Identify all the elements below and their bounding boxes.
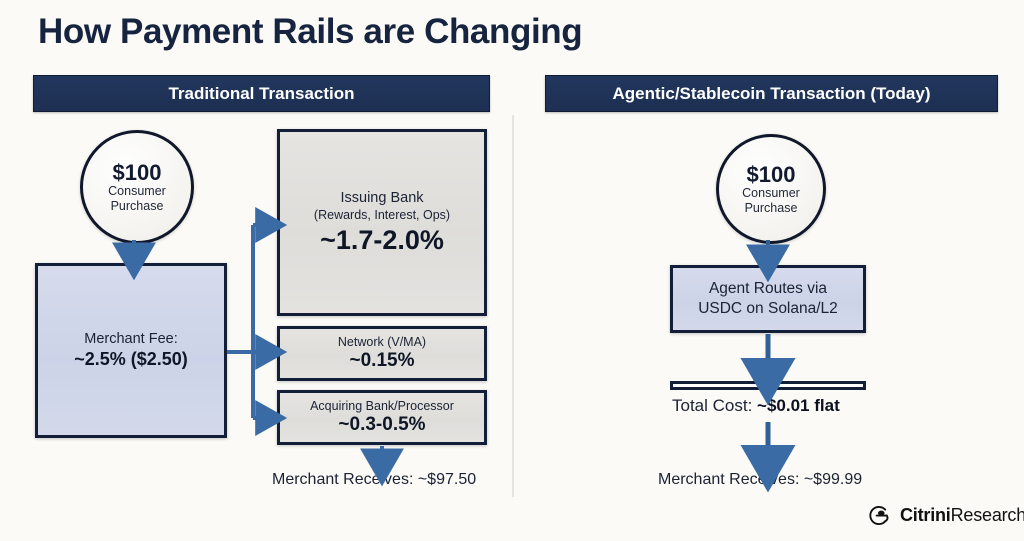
merchant-fee-percent: ~2.5% ($2.50)	[74, 349, 188, 369]
page-title: How Payment Rails are Changing	[38, 12, 582, 52]
network-name: Network (V/MA)	[338, 335, 426, 351]
total-cost-label: Total Cost:	[672, 396, 757, 415]
brand-logo: CitriniResearch	[868, 503, 1024, 528]
total-cost-caption: Total Cost: ~$0.01 flat	[672, 396, 840, 416]
column-divider	[512, 115, 514, 497]
merchant-fee-label: Merchant Fee:	[84, 330, 178, 349]
issuing-bank-name: Issuing Bank	[340, 189, 423, 208]
brand-name-bold: Citrini	[900, 505, 951, 525]
consumer-amount-agentic: $100	[747, 163, 796, 186]
total-cost-value: ~$0.01 flat	[757, 396, 840, 415]
citrini-mark-icon	[868, 503, 893, 528]
merchant-fee-box: Merchant Fee: ~2.5% ($2.50)	[35, 263, 227, 438]
total-cost-bar	[670, 381, 866, 390]
acquiring-bank-name: Acquiring Bank/Processor	[310, 399, 454, 415]
agent-route-line1: Agent Routes via	[709, 279, 827, 299]
merchant-receives-traditional: Merchant Receives: ~$97.50	[272, 471, 476, 489]
consumer-label-line2: Purchase	[111, 199, 164, 214]
brand-name-light: Research	[951, 505, 1024, 525]
acquiring-bank-box: Acquiring Bank/Processor ~0.3-0.5%	[277, 390, 487, 445]
diagram-canvas: How Payment Rails are Changing Tradition…	[0, 0, 1024, 541]
column-header-traditional: Traditional Transaction	[33, 75, 490, 112]
column-header-agentic: Agentic/Stablecoin Transaction (Today)	[545, 75, 998, 112]
consumer-purchase-circle-traditional: $100 Consumer Purchase	[80, 130, 194, 244]
consumer-amount: $100	[113, 161, 162, 184]
issuing-bank-value: ~1.7-2.0%	[320, 226, 444, 256]
brand-wordmark: CitriniResearch	[900, 505, 1024, 526]
consumer-label-line1-agentic: Consumer	[742, 186, 800, 201]
agent-route-box: Agent Routes via USDC on Solana/L2	[670, 265, 866, 333]
network-box: Network (V/MA) ~0.15%	[277, 326, 487, 381]
consumer-purchase-circle-agentic: $100 Consumer Purchase	[716, 134, 826, 244]
merchant-fee-value: ~2.5% ($2.50)	[74, 349, 188, 371]
acquiring-bank-value: ~0.3-0.5%	[338, 414, 425, 436]
consumer-label-line1: Consumer	[108, 184, 166, 199]
issuing-bank-box: Issuing Bank (Rewards, Interest, Ops) ~1…	[277, 129, 487, 316]
network-value: ~0.15%	[350, 350, 415, 372]
consumer-label-line2-agentic: Purchase	[745, 201, 798, 216]
issuing-bank-detail: (Rewards, Interest, Ops)	[314, 208, 450, 224]
merchant-receives-agentic: Merchant Receives: ~$99.99	[658, 471, 862, 489]
agent-route-line2: USDC on Solana/L2	[698, 299, 838, 319]
